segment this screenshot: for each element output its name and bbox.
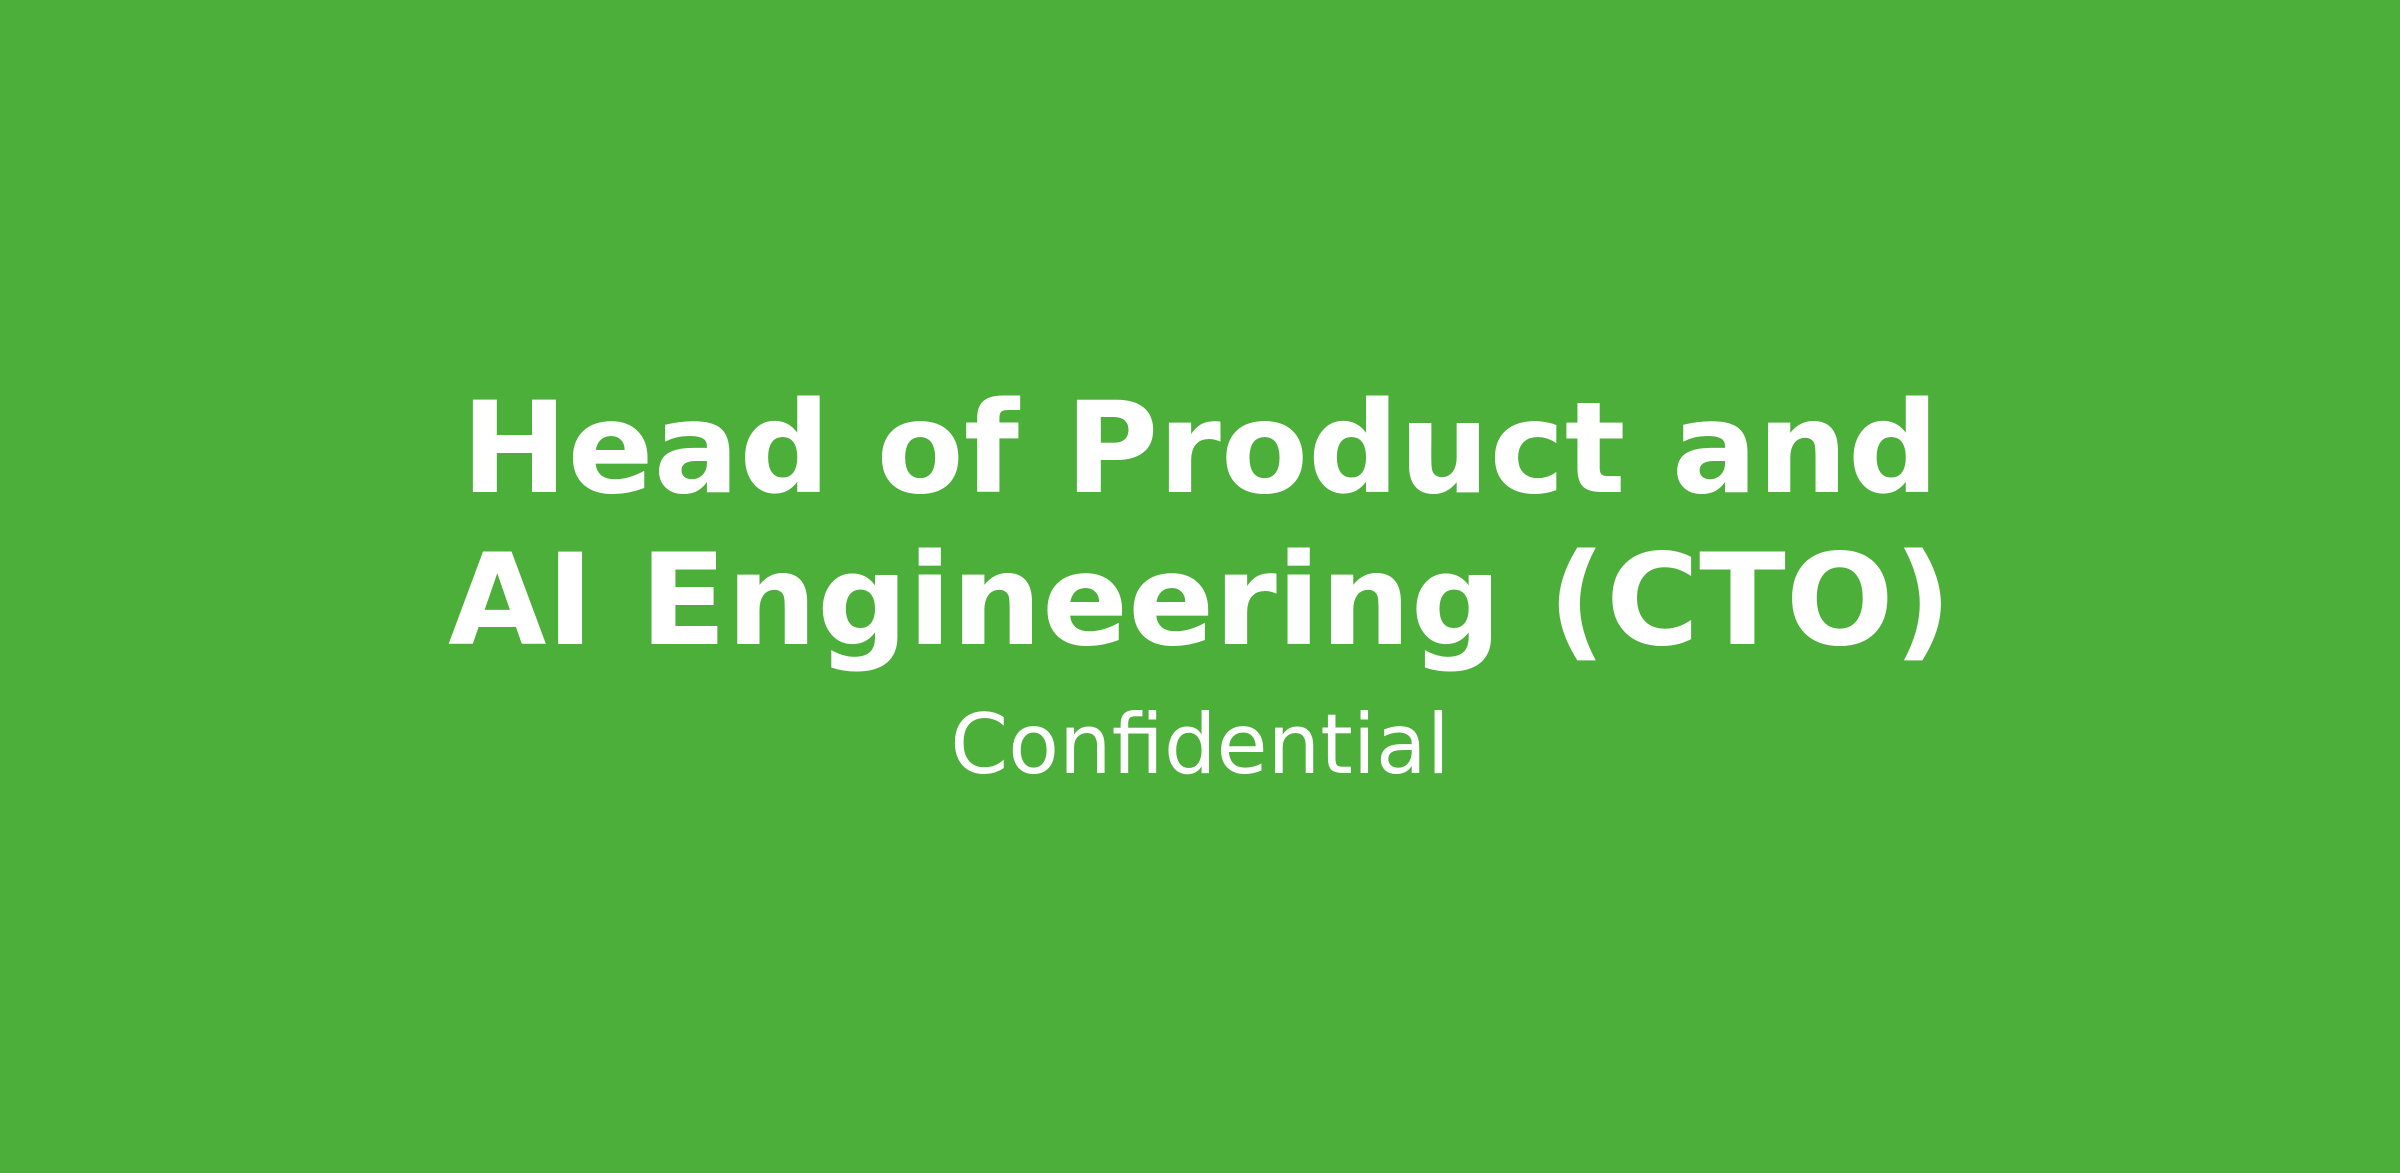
slide-subtitle: Confidential <box>390 699 2010 790</box>
title-slide: Head of Product and AI Engineering (CTO)… <box>0 0 2400 1173</box>
slide-title: Head of Product and AI Engineering (CTO) <box>390 372 2010 677</box>
title-block: Head of Product and AI Engineering (CTO)… <box>390 372 2010 790</box>
